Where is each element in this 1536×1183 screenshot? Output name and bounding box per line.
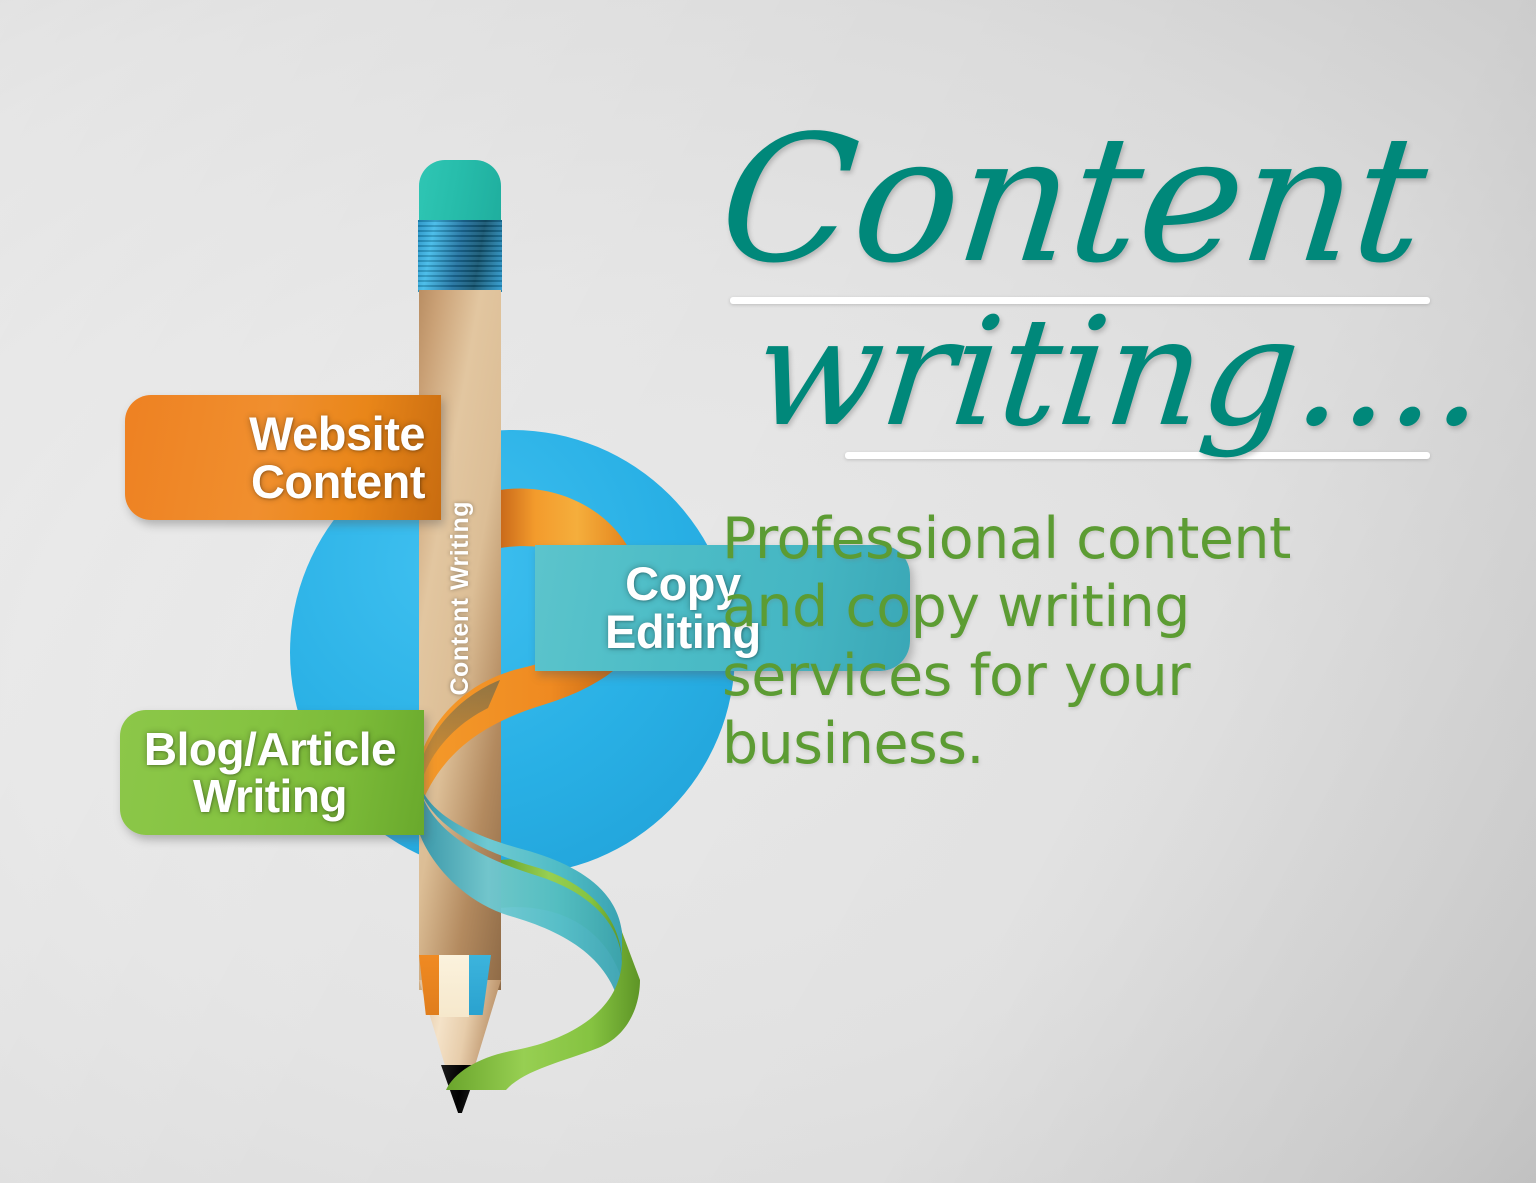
- pencil-facet-cream: [439, 955, 469, 1017]
- pencil-graphite-tip: [441, 1065, 479, 1113]
- poster-canvas: Content Writing Website Content: [0, 0, 1536, 1183]
- banner-website-line1: Website: [249, 410, 425, 458]
- pencil-ferrule: [418, 220, 502, 292]
- pencil-illustration: Content Writing Website Content: [95, 130, 775, 1090]
- pencil-eraser: [419, 160, 501, 226]
- banner-blog-article-writing[interactable]: Blog/Article Writing: [120, 710, 424, 835]
- subcopy-text: Professional content and copy writing se…: [700, 505, 1322, 779]
- banner-blog-line1: Blog/Article: [144, 726, 396, 773]
- headline-column: Content writing.... Professional content…: [700, 120, 1490, 779]
- headline-line2: writing....: [693, 304, 1498, 442]
- ribbon-green-back: [500, 859, 622, 980]
- headline-line1: Content: [692, 120, 1499, 281]
- banner-website-content[interactable]: Website Content: [125, 395, 441, 520]
- banner-blog-line2: Writing: [144, 773, 396, 820]
- pencil: Content Writing: [405, 160, 515, 1090]
- banner-website-line2: Content: [249, 458, 425, 506]
